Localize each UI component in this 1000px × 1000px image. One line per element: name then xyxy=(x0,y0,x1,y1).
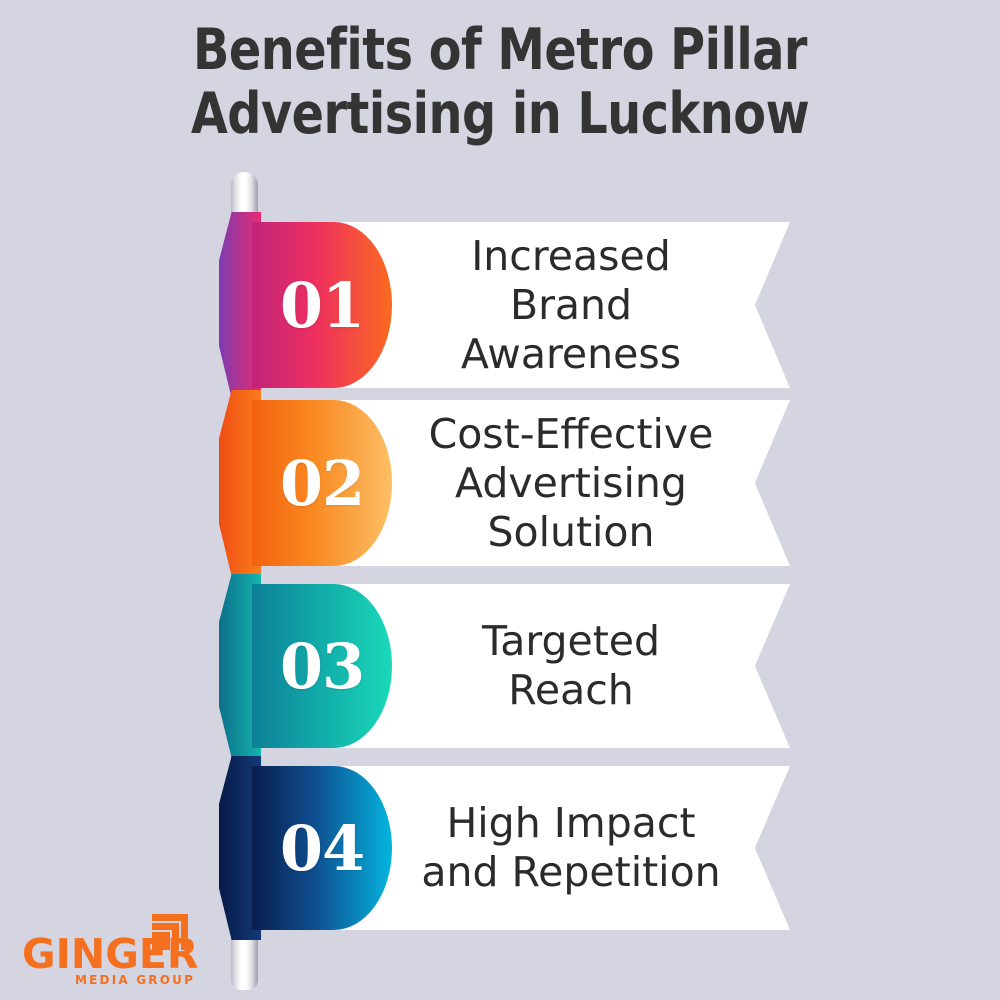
page-title: Benefits of Metro Pillar Advertising in … xyxy=(35,18,965,146)
benefit-row[interactable]: 03Targeted Reach xyxy=(0,584,1000,748)
benefit-row[interactable]: 01Increased Brand Awareness xyxy=(0,222,1000,388)
benefit-label: Increased Brand Awareness xyxy=(392,222,750,388)
logo-subtitle: MEDIA GROUP xyxy=(75,974,195,986)
benefit-label: Targeted Reach xyxy=(392,584,750,748)
pole-highlight-top xyxy=(437,189,484,218)
benefit-number: 03 xyxy=(252,584,392,748)
benefit-label: Cost-Effective Advertising Solution xyxy=(392,400,750,566)
benefit-number: 04 xyxy=(252,766,392,930)
brand-logo[interactable]: GINGER MEDIA GROUP xyxy=(22,910,222,982)
benefit-row[interactable]: 04High Impact and Repetition xyxy=(0,766,1000,930)
benefit-row[interactable]: 02Cost-Effective Advertising Solution xyxy=(0,400,1000,566)
page-title-line-2: Advertising in Lucknow xyxy=(35,82,965,146)
benefit-number: 01 xyxy=(252,222,392,388)
benefit-label: High Impact and Repetition xyxy=(392,766,750,930)
logo-wordmark: GINGER xyxy=(22,934,198,975)
page-title-line-1: Benefits of Metro Pillar xyxy=(35,18,965,82)
infographic-canvas: Benefits of Metro Pillar Advertising in … xyxy=(0,0,1000,1000)
benefit-number: 02 xyxy=(252,400,392,566)
